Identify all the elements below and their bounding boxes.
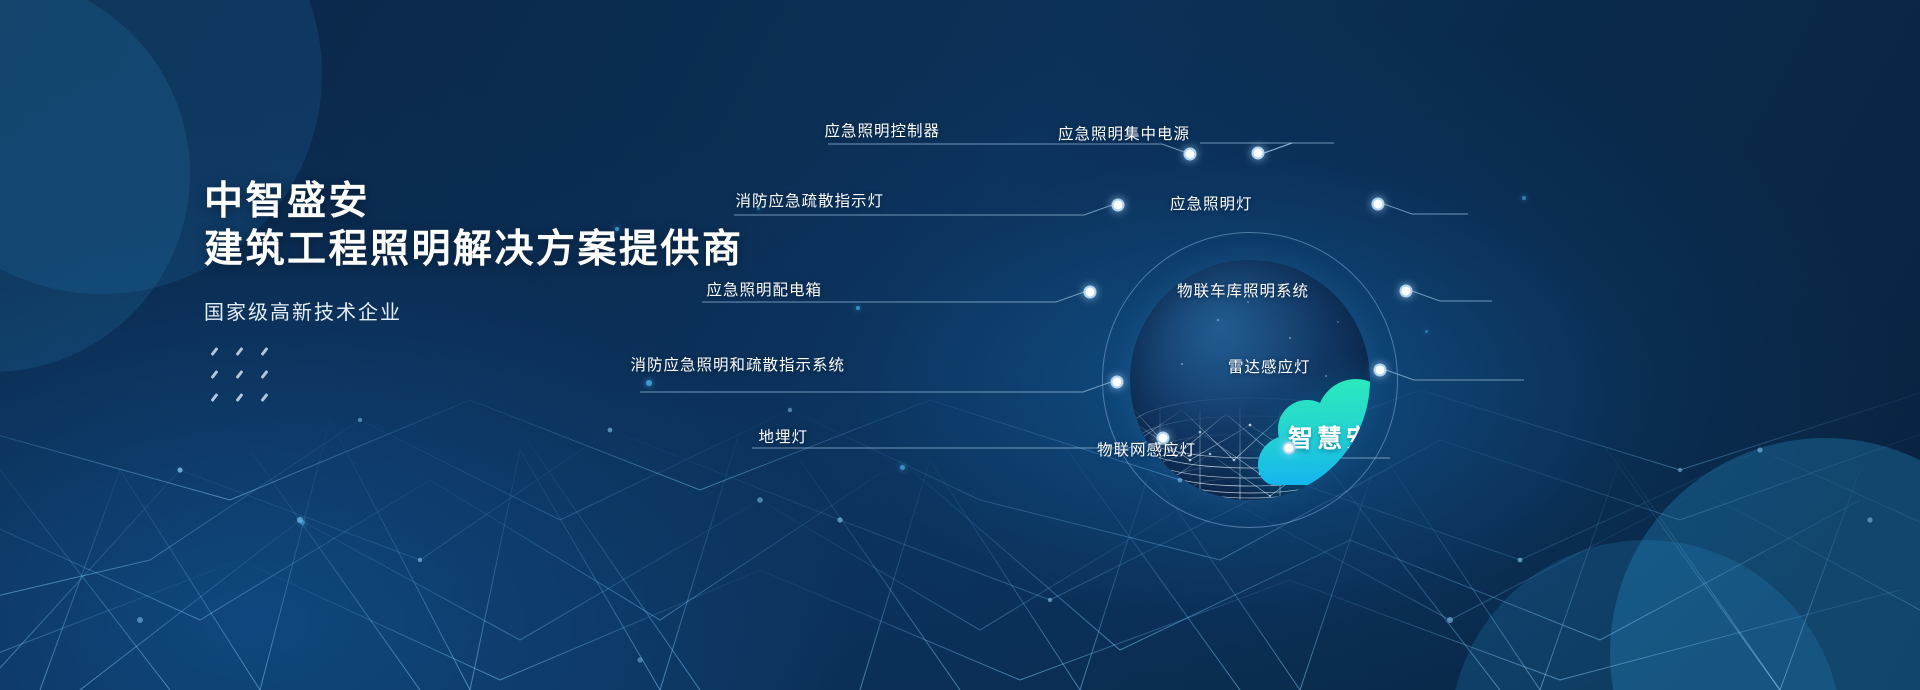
node-fire-emergency-lighting-evac-system[interactable] xyxy=(1111,376,1124,389)
node-emergency-lighting-lamp[interactable] xyxy=(1372,198,1385,211)
ambient-dot xyxy=(1522,196,1526,200)
subheadline: 国家级高新技术企业 xyxy=(204,296,744,325)
label-emergency-lighting-central-power[interactable]: 应急照明集中电源 xyxy=(1058,122,1190,144)
label-connector-lines xyxy=(0,0,1920,690)
node-fire-emergency-evacuation-sign-light[interactable] xyxy=(1112,199,1125,212)
ambient-dot xyxy=(300,520,305,525)
node-iot-garage-lighting-system[interactable] xyxy=(1400,285,1413,298)
cloud-shape: 智慧安全 xyxy=(1256,357,1370,492)
decorative-circle-bottom-right-2 xyxy=(1450,540,1842,690)
decorative-circle-bottom-right-1 xyxy=(1610,438,1920,690)
ambient-dot xyxy=(900,465,905,470)
headline-line-2: 建筑工程照明解决方案提供商 xyxy=(204,226,744,274)
label-fire-emergency-lighting-evac-system[interactable]: 消防应急照明和疏散指示系统 xyxy=(630,353,845,375)
node-radar-sensor-light[interactable] xyxy=(1374,364,1387,377)
label-emergency-lighting-distribution-box[interactable]: 应急照明配电箱 xyxy=(706,278,822,300)
headline-block: 中智盛安 建筑工程照明解决方案提供商 国家级高新技术企业 xyxy=(204,178,744,325)
ambient-dot xyxy=(856,306,860,310)
label-iot-sensor-light[interactable]: 物联网感应灯 xyxy=(1097,438,1196,460)
label-emergency-lighting-lamp[interactable]: 应急照明灯 xyxy=(1170,192,1253,214)
banner-canvas: 中智盛安 建筑工程照明解决方案提供商 国家级高新技术企业 xyxy=(0,0,1920,690)
label-buried-ground-light[interactable]: 地埋灯 xyxy=(758,425,808,447)
node-iot-sensor-light[interactable] xyxy=(1283,442,1296,455)
node-emergency-lighting-controller[interactable] xyxy=(1184,148,1197,161)
node-emergency-lighting-central-power[interactable] xyxy=(1252,147,1265,160)
decorative-dash-grid xyxy=(210,340,285,409)
ambient-dot xyxy=(646,380,652,386)
smart-safety-diagram: 智慧安全 xyxy=(1035,165,1465,595)
decorative-circle-top-left-2 xyxy=(0,0,190,372)
headline-line-1: 中智盛安 xyxy=(204,178,744,226)
label-fire-emergency-evacuation-sign-light[interactable]: 消防应急疏散指示灯 xyxy=(735,189,884,211)
label-emergency-lighting-controller[interactable]: 应急照明控制器 xyxy=(824,119,940,141)
node-emergency-lighting-distribution-box[interactable] xyxy=(1084,286,1097,299)
network-mesh-background xyxy=(0,0,1920,690)
label-radar-sensor-light[interactable]: 雷达感应灯 xyxy=(1228,355,1311,377)
cloud-label: 智慧安全 xyxy=(1256,419,1370,455)
label-iot-garage-lighting-system[interactable]: 物联车库照明系统 xyxy=(1177,279,1309,301)
